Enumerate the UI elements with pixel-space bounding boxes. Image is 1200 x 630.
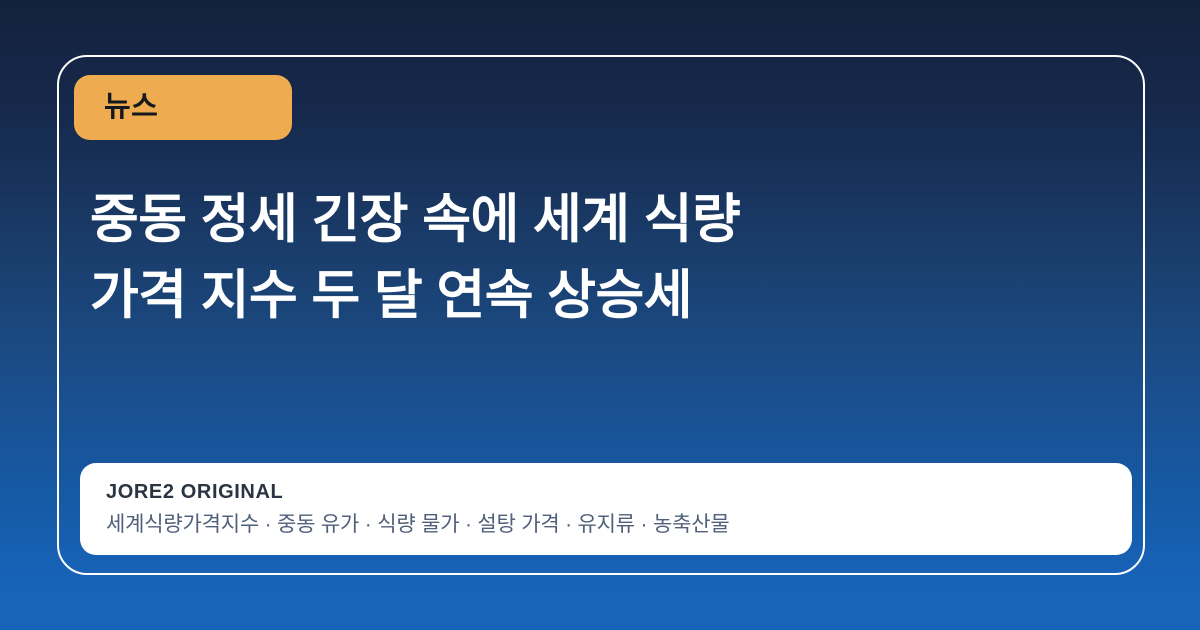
category-badge-label: 뉴스 [104,93,158,122]
page-title: 중동 정세 긴장 속에 세계 식량 가격 지수 두 달 연속 상승세 [90,182,1050,334]
brand-label: JORE2 ORIGINAL [106,481,1106,503]
footer-card: JORE2 ORIGINAL 세계식량가격지수 · 중동 유가 · 식량 물가 … [80,463,1132,555]
tag-list: 세계식량가격지수 · 중동 유가 · 식량 물가 · 설탕 가격 · 유지류 ·… [106,512,1106,537]
category-badge[interactable]: 뉴스 [74,75,292,140]
share-card-canvas: 뉴스 중동 정세 긴장 속에 세계 식량 가격 지수 두 달 연속 상승세 JO… [0,0,1200,630]
